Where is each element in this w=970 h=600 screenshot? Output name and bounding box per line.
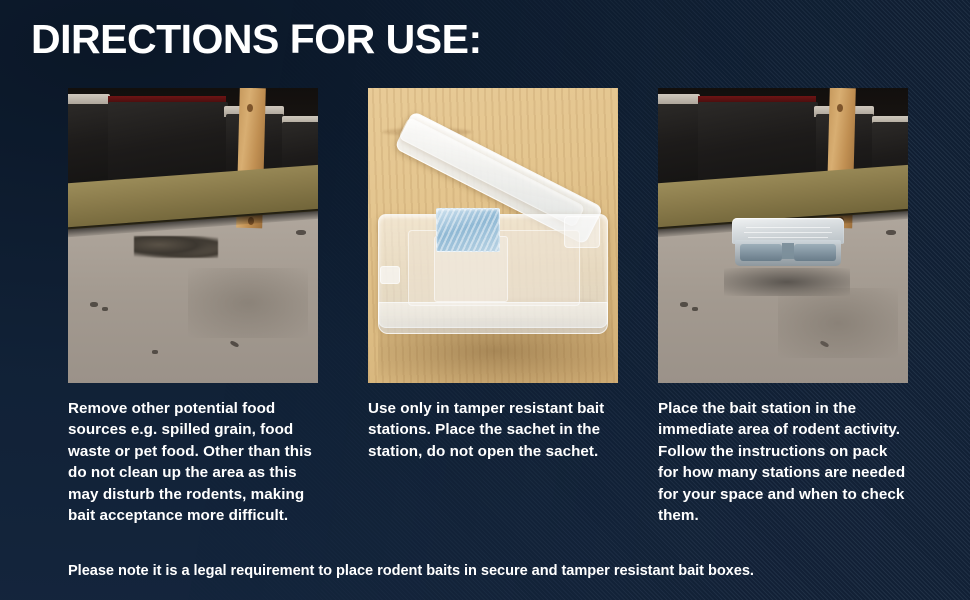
step-3-photo — [658, 88, 908, 383]
step-2-column: Use only in tamper resistant bait statio… — [368, 88, 618, 462]
post-knot-top — [247, 104, 253, 112]
floor-speck-1 — [680, 302, 688, 307]
poster-content: DIRECTIONS FOR USE: — [0, 0, 970, 600]
bait-station-latch-left — [380, 266, 400, 284]
step-1-column: Remove other potential food sources e.g.… — [68, 88, 318, 526]
bait-station-tray-front — [378, 302, 608, 334]
closed-bait-station — [732, 218, 844, 274]
bait-station-window-left — [740, 244, 782, 261]
storage-bin-left — [68, 104, 112, 190]
bait-station-window-right — [794, 244, 836, 261]
post-knot-top — [837, 104, 843, 112]
floor-speck-3 — [152, 350, 158, 354]
floor-stain — [188, 268, 308, 338]
step-3-caption: Place the bait station in the immediate … — [658, 398, 910, 526]
bait-station-latch — [782, 243, 794, 259]
step-1-photo — [68, 88, 318, 383]
step-2-caption: Use only in tamper resistant bait statio… — [368, 398, 615, 462]
spilled-grain-pile — [134, 236, 218, 258]
step-3-column: Place the bait station in the immediate … — [658, 88, 908, 526]
bait-sachet — [436, 208, 500, 252]
bait-station-entry-hole — [564, 216, 600, 248]
floor-speck-5 — [296, 230, 306, 235]
legal-requirement-note: Please note it is a legal requirement to… — [68, 563, 754, 579]
step-1-caption: Remove other potential food sources e.g.… — [68, 398, 315, 526]
floor-speck-4 — [886, 230, 896, 235]
floor-speck-2 — [102, 307, 108, 311]
storage-bin-left — [658, 104, 702, 190]
step-2-photo — [368, 88, 618, 383]
bait-station-lid-rib-1 — [746, 227, 830, 228]
page-title: DIRECTIONS FOR USE: — [31, 19, 482, 60]
floor-stain — [778, 288, 898, 358]
floor-speck-2 — [692, 307, 698, 311]
bait-station-lid-rib-2 — [744, 232, 832, 233]
bait-station-lid-rib-3 — [748, 237, 828, 238]
floor-speck-1 — [90, 302, 98, 307]
directions-for-use-poster: DIRECTIONS FOR USE: — [0, 0, 970, 600]
